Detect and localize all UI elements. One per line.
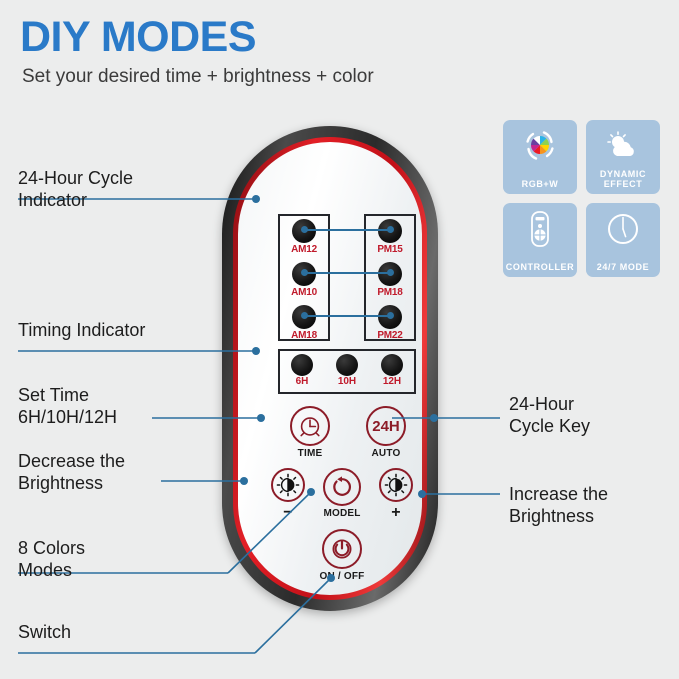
callout-set-time: Set Time 6H/10H/12H <box>18 384 117 428</box>
leader-dot <box>307 488 315 496</box>
hour-key-10h[interactable]: 10H <box>325 354 369 387</box>
button-symbol: + <box>368 504 424 522</box>
page-title: DIY MODES <box>20 16 256 59</box>
cycle-arrow-icon[interactable] <box>323 468 361 506</box>
leader-dot <box>257 414 265 422</box>
key-label: AM18 <box>278 330 330 341</box>
brightness-up-button[interactable]: + <box>368 468 424 522</box>
button-label: MODEL <box>314 508 370 519</box>
key-label: 10H <box>325 376 369 387</box>
alarm-clock-icon[interactable] <box>290 406 330 446</box>
feature-badge-grid: RGB+W DYNAMIC EFFECT <box>503 120 663 277</box>
timer-key-pm18[interactable]: PM18 <box>364 262 416 298</box>
button-symbol: 24H <box>372 418 400 435</box>
connector-line <box>304 315 390 317</box>
connector-dot <box>301 269 308 276</box>
timer-key-am12[interactable]: AM12 <box>278 219 330 255</box>
badge-controller: CONTROLLER <box>503 203 577 277</box>
button-label: TIME <box>279 448 341 459</box>
badge-label: RGB+W <box>503 179 577 189</box>
leader-dot <box>252 195 260 203</box>
callout-24-hour-cycle-key: 24-Hour Cycle Key <box>509 393 590 437</box>
connector-dot <box>301 226 308 233</box>
infographic-page: DIY MODES Set your desired time + bright… <box>0 0 679 679</box>
color-wheel-icon <box>503 129 577 163</box>
connector-dot <box>301 312 308 319</box>
power-icon[interactable] <box>322 529 362 569</box>
key-label: PM15 <box>364 244 416 255</box>
connector-line <box>304 272 390 274</box>
badge-label: DYNAMIC EFFECT <box>586 169 660 189</box>
timer-key-am18[interactable]: AM18 <box>278 305 330 341</box>
key-label: 12H <box>370 376 414 387</box>
connector-dot <box>387 226 394 233</box>
timer-key-pm22[interactable]: PM22 <box>364 305 416 341</box>
callout-24-hour-cycle-indicator: 24-Hour Cycle Indicator <box>18 167 133 211</box>
badge-247-mode: 24/7 MODE <box>586 203 660 277</box>
button-symbol: − <box>260 504 316 522</box>
power-button[interactable]: ON / OFF <box>314 529 370 582</box>
badge-label: 24/7 MODE <box>586 262 660 272</box>
key-label: PM18 <box>364 287 416 298</box>
button-label: AUTO <box>355 448 417 459</box>
model-button[interactable]: MODEL <box>314 468 370 519</box>
leader-dot <box>240 477 248 485</box>
callout-increase-brightness: Increase the Brightness <box>509 483 608 527</box>
brightness-down-icon[interactable] <box>271 468 305 502</box>
badge-rgbw: RGB+W <box>503 120 577 194</box>
hour-key-12h[interactable]: 12H <box>370 354 414 387</box>
key-label: 6H <box>280 376 324 387</box>
page-subtitle: Set your desired time + brightness + col… <box>22 66 374 88</box>
callout-timing-indicator: Timing Indicator <box>18 319 145 341</box>
key-dot[interactable] <box>381 354 403 376</box>
button-label: ON / OFF <box>314 571 370 582</box>
key-label: AM10 <box>278 287 330 298</box>
badge-label: CONTROLLER <box>503 262 577 272</box>
callout-switch: Switch <box>18 621 71 643</box>
connector-dot <box>387 269 394 276</box>
key-label: AM12 <box>278 244 330 255</box>
clock-icon <box>586 212 660 246</box>
connector-line <box>304 229 390 231</box>
sun-cloud-icon <box>586 129 660 163</box>
leader-dot <box>252 347 260 355</box>
24h-text-icon[interactable]: 24H <box>366 406 406 446</box>
time-button[interactable]: TIME <box>279 406 341 459</box>
leader-dot <box>327 574 335 582</box>
timer-key-am10[interactable]: AM10 <box>278 262 330 298</box>
key-dot[interactable] <box>291 354 313 376</box>
timer-key-pm15[interactable]: PM15 <box>364 219 416 255</box>
key-label: PM22 <box>364 330 416 341</box>
leader-dot <box>418 490 426 498</box>
hour-key-6h[interactable]: 6H <box>280 354 324 387</box>
leader-dot <box>430 414 438 422</box>
callout-8-colors-modes: 8 Colors Modes <box>18 537 85 581</box>
badge-dynamic-effect: DYNAMIC EFFECT <box>586 120 660 194</box>
brightness-up-icon[interactable] <box>379 468 413 502</box>
remote-control-icon <box>503 212 577 246</box>
key-dot[interactable] <box>336 354 358 376</box>
callout-decrease-brightness: Decrease the Brightness <box>18 450 125 494</box>
auto-24h-button[interactable]: 24H AUTO <box>355 406 417 459</box>
remote-face: AM12 AM10 AM18 PM15 PM18 PM22 <box>238 142 422 595</box>
connector-dot <box>387 312 394 319</box>
